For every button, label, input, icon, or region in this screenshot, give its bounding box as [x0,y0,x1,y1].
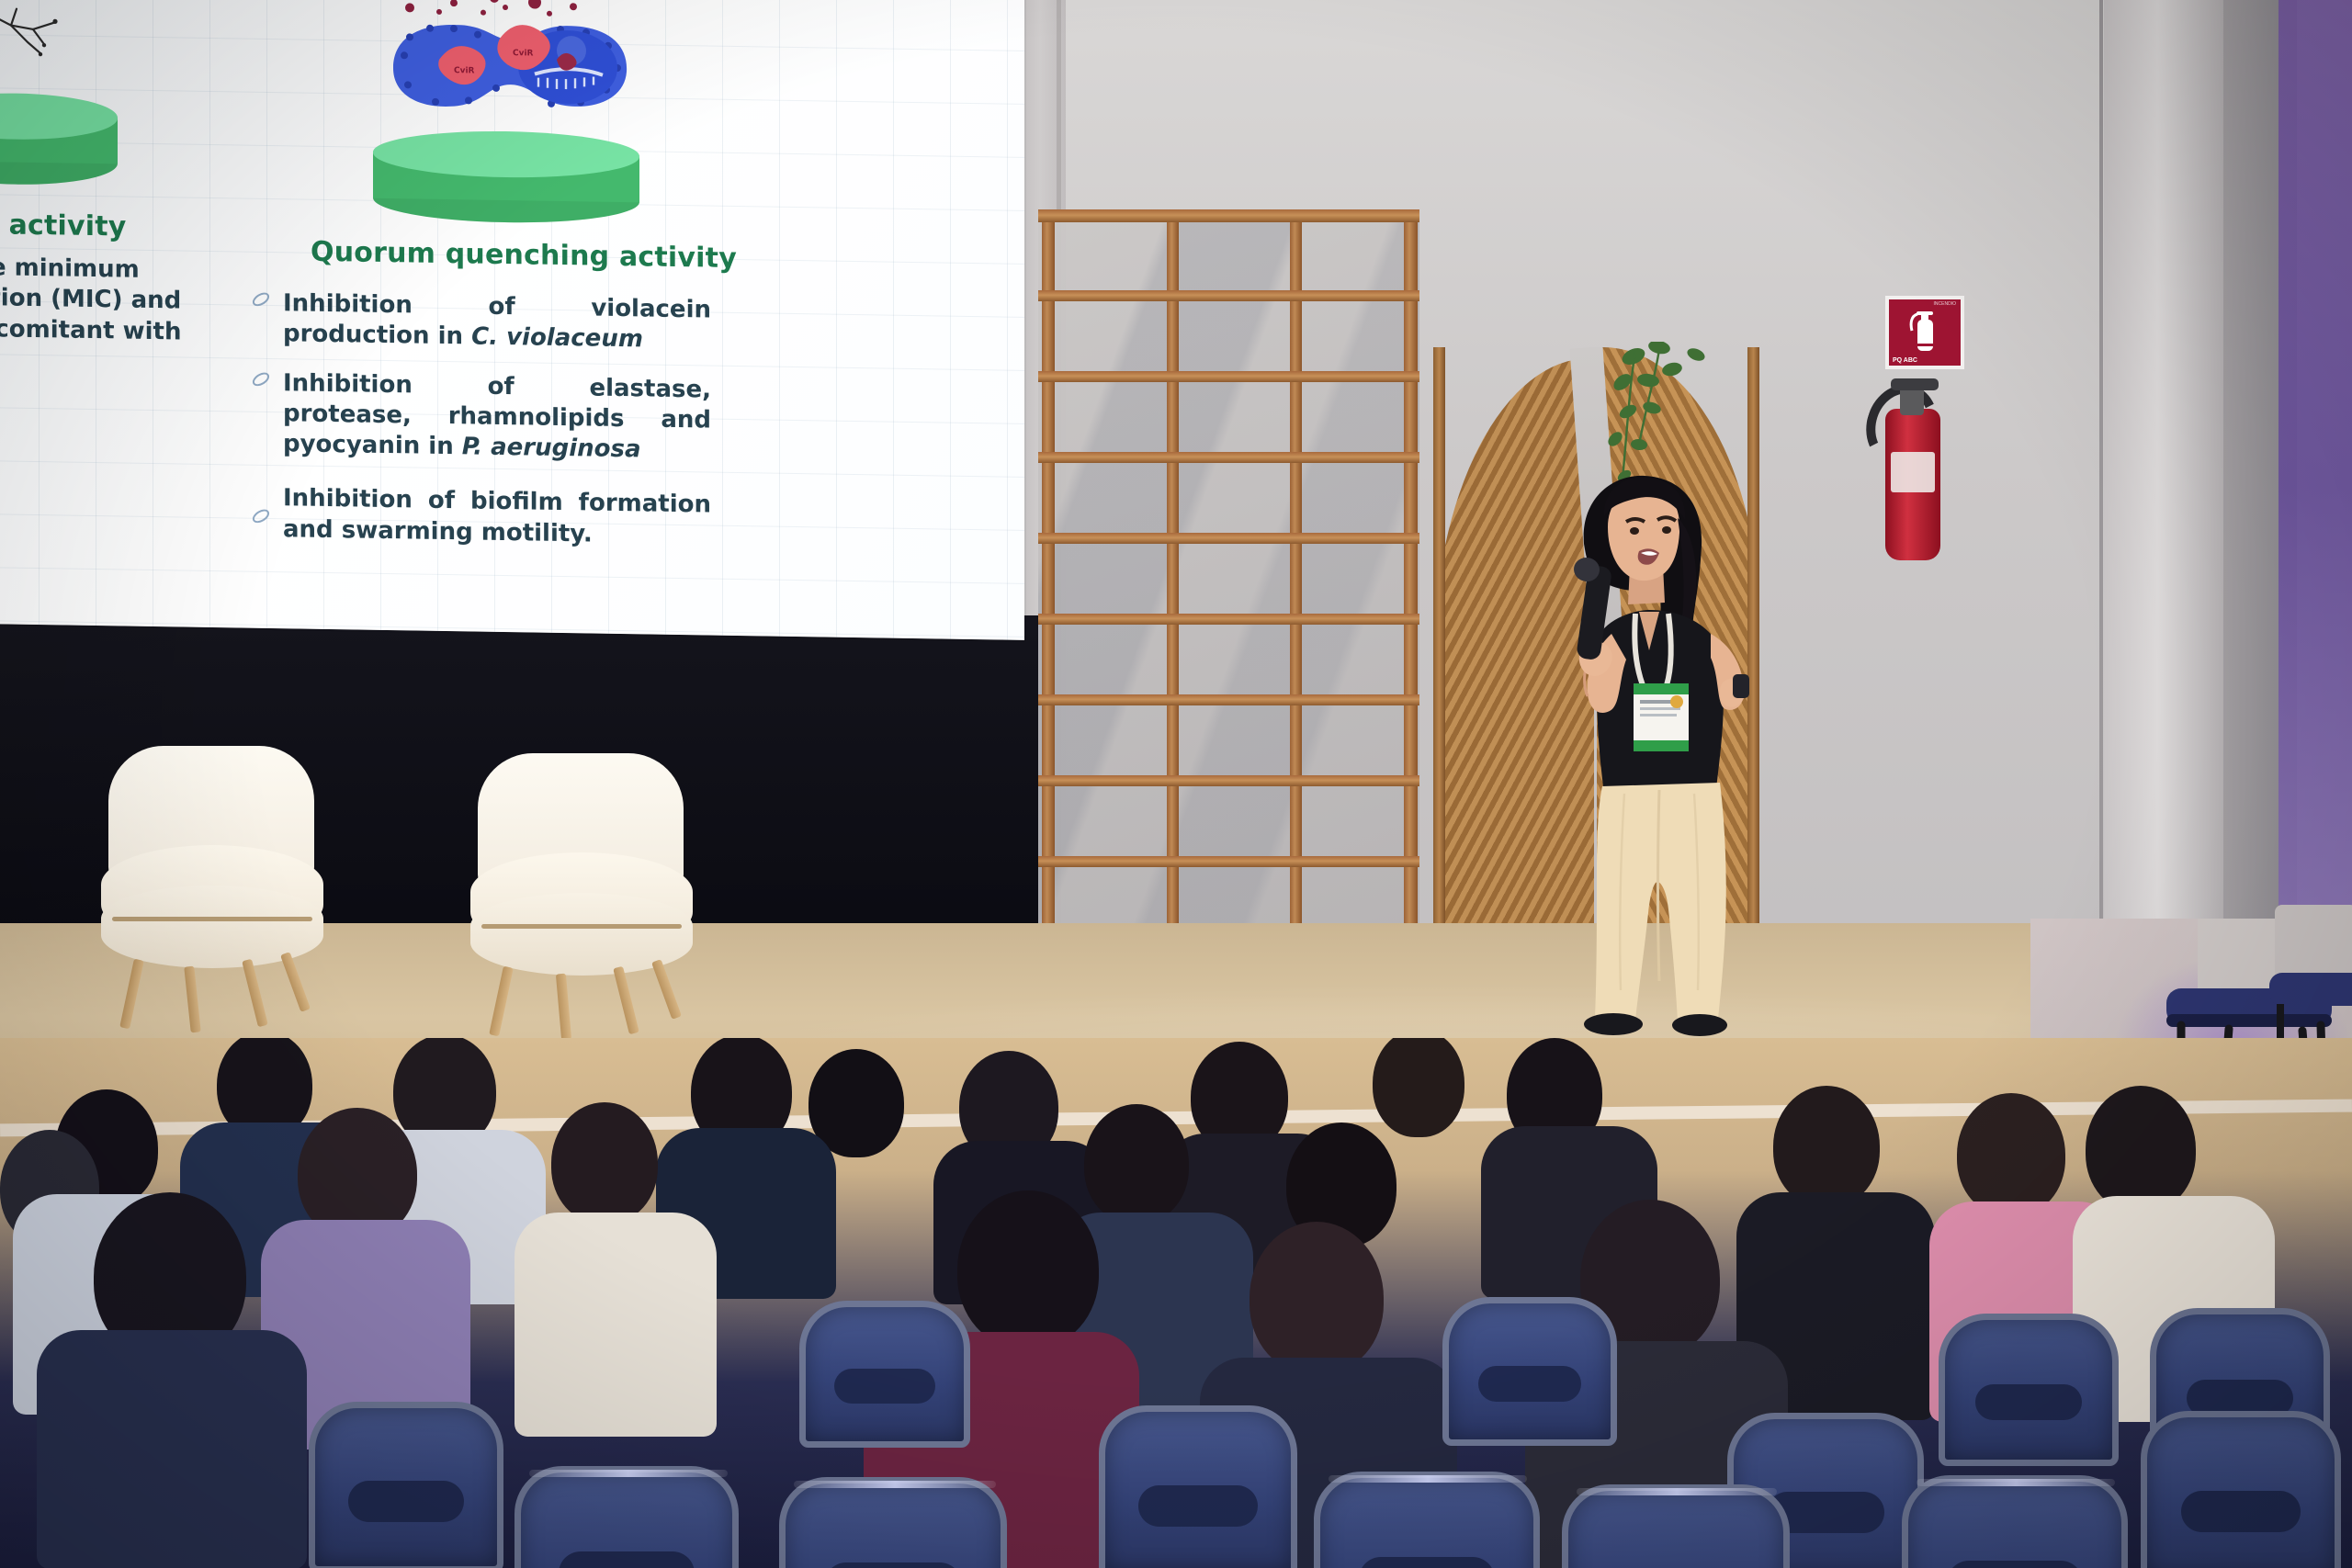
chair-gleam [529,1470,728,1477]
wall-pillar [2104,0,2223,983]
audience-head [1957,1093,2065,1216]
fire-extinguisher-handle [1891,378,1939,390]
wooden-lattice-panel [1038,209,1419,935]
audience-head [2086,1086,2196,1213]
presentation-photo-scene: CviR CviR al activity the minimum ration… [0,0,2352,1568]
audience-chair-back [799,1301,970,1448]
chair-gleam [1329,1475,1527,1483]
audience-chair-back [1442,1297,1617,1446]
chair-gleam [794,1481,996,1488]
svg-text:CviR: CviR [454,66,475,75]
bullet-marker-icon [250,507,271,526]
slide-bullet-3: Inhibition of biofilm formation and swar… [283,484,711,552]
slide-bullet-1: Inhibition of violacein production in C.… [283,288,711,356]
audience-head [1773,1086,1880,1207]
audience-head [1373,1038,1464,1137]
slide-column-title-right: Quorum quenching activity [311,236,737,275]
chair-gleam [1577,1488,1777,1495]
pedestal-left [0,92,118,179]
lattice-shadow [1038,209,1419,935]
audience-chair-back [2141,1411,2341,1568]
audience-chair-back [1099,1405,1297,1568]
audience-head [1249,1222,1384,1374]
slide-column-title-left: al activity [0,209,127,243]
speaker-presenter [1496,467,1771,1064]
fire-extinguisher-label [1891,452,1935,492]
audience-chair-back [1314,1472,1540,1568]
fire-extinguisher-sign: INCENDIO PQ ABC [1885,296,1964,369]
audience-chair-back [309,1402,503,1568]
audience-head [551,1102,658,1224]
audience-head [957,1190,1099,1348]
audience-body [514,1213,717,1437]
audience-chair-back [514,1466,739,1568]
left-body-line-2: ration (MIC) and [0,283,198,317]
slide-column-body-left: the minimum ration (MIC) and oncomitant … [0,253,198,378]
slide-bullet-3-text: Inhibition of biofilm formation and swar… [283,485,711,548]
pedestal-right [373,130,639,219]
purple-accent-light [2278,0,2352,974]
audience-section [0,1038,2352,1568]
bullet-marker-icon [250,369,271,389]
audience-chair-back [1562,1484,1790,1568]
slide-bullet-2-italic: P. aeruginosa [462,433,641,463]
audience-chair-back [779,1477,1007,1568]
left-body-line-1: the minimum [0,253,198,287]
audience-chair-back [1939,1314,2119,1466]
fire-extinguisher-icon [1909,309,1940,356]
slide-bullet-1-italic: C. violaceum [471,323,643,354]
fire-extinguisher-sign-inner: INCENDIO PQ ABC [1889,299,1961,366]
lounge-chair-right [470,753,693,1020]
left-body-line-4: ol. [0,344,198,378]
slide-content: CviR CviR al activity the minimum ration… [0,0,1024,640]
fire-sign-corner-text: INCENDIO [1934,301,1956,307]
audience-head [1084,1104,1189,1224]
fire-sign-label: PQ ABC [1893,357,1917,364]
bullet-marker-icon [250,290,271,310]
slide-bullet-2: Inhibition of elastase, protease, rhamno… [283,368,711,467]
audience-chair-back [1902,1475,2128,1568]
svg-text:CviR: CviR [513,49,534,58]
lounge-chair-left [101,746,323,1012]
left-body-line-3: oncomitant with [0,313,198,347]
projection-screen: CviR CviR al activity the minimum ration… [0,0,1024,640]
chair-gleam [1917,1479,2115,1486]
wall-seam-right [2099,0,2103,983]
bacterium-illustration: CviR CviR [377,0,643,121]
slide-column-body-right: Inhibition of violacein production in C.… [283,288,711,570]
audience-body [37,1330,307,1568]
